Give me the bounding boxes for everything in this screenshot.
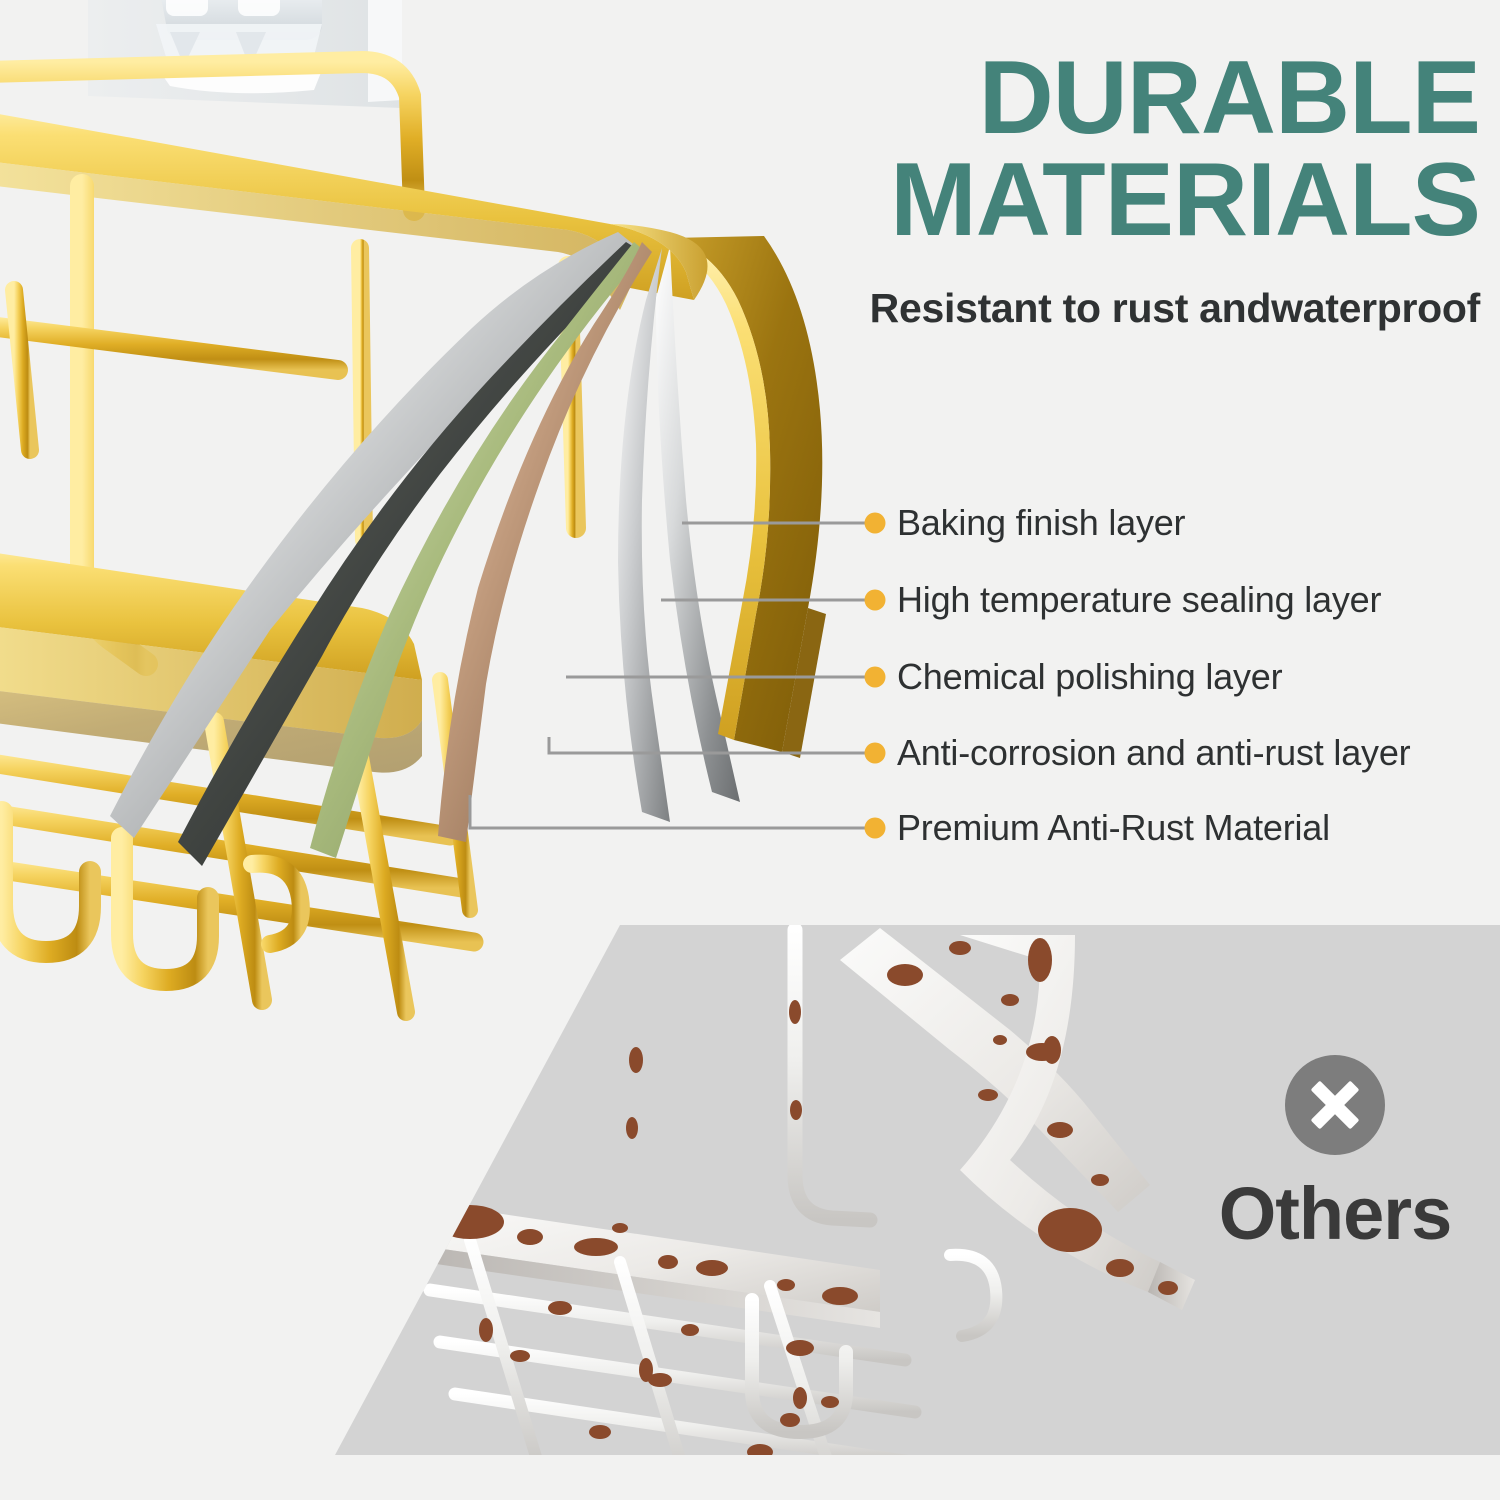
callout-label-2: High temperature sealing layer bbox=[897, 579, 1381, 621]
callout-label-4: Anti-corrosion and anti-rust layer bbox=[897, 732, 1410, 774]
callout-dot-4 bbox=[865, 743, 886, 764]
callout-dot-5 bbox=[865, 818, 886, 839]
callout-dot-1 bbox=[865, 513, 886, 534]
callout-label-5: Premium Anti-Rust Material bbox=[897, 807, 1330, 849]
headline-subtitle: Resistant to rust andwaterproof bbox=[620, 285, 1480, 332]
callout-label-3: Chemical polishing layer bbox=[897, 656, 1282, 698]
headline-line-1: DURABLE bbox=[700, 48, 1480, 150]
x-circle-icon bbox=[1285, 1055, 1385, 1155]
shelf-brace-left bbox=[14, 290, 30, 450]
callout-dot-3 bbox=[865, 667, 886, 688]
product-infographic: Others bbox=[0, 0, 1500, 1500]
callout-label-1: Baking finish layer bbox=[897, 502, 1185, 544]
callout-dot-2 bbox=[865, 590, 886, 611]
headline-block: DURABLE MATERIALS bbox=[700, 48, 1480, 252]
others-badge: Others bbox=[1205, 1055, 1465, 1251]
headline-line-2: MATERIALS bbox=[700, 150, 1480, 252]
others-label: Others bbox=[1205, 1177, 1465, 1251]
shelf-rail-2 bbox=[0, 316, 338, 370]
